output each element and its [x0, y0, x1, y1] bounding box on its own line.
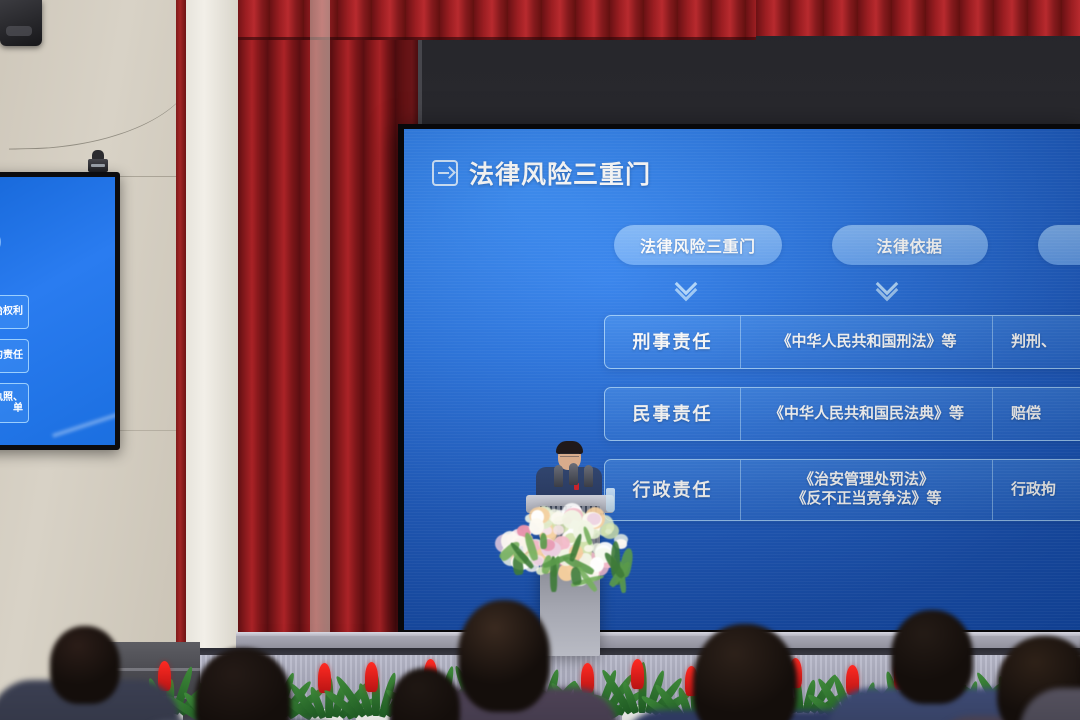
side-monitor-row-2: 约责任: [0, 339, 29, 373]
chevron-slot-1: [614, 279, 760, 299]
row-legal-basis: 《中华人民共和国刑法》等: [741, 316, 993, 368]
header-pill-legal-basis: 法律依据: [832, 225, 988, 265]
left-wall-monitor-screen: 政治权利 约责任 销执照、 单: [0, 177, 115, 445]
row-consequence: 赔偿: [993, 388, 1080, 440]
header-pill-category: 法律风险三重门: [614, 225, 782, 265]
glasses-icon: [560, 453, 579, 457]
audience-member: [1020, 560, 1080, 720]
audience-member: [340, 560, 510, 720]
row-consequence: 行政拘: [993, 460, 1080, 520]
chevron-double-down-icon: [676, 279, 698, 299]
microphone-icon: [554, 465, 563, 487]
conference-room-scene: 政治权利 约责任 销执照、 单 法律风险三重门 法律风险三重门 法律依据: [0, 0, 1080, 720]
chevron-slot-3: [1016, 279, 1080, 299]
legal-risk-table: 刑事责任 《中华人民共和国刑法》等 判刑、 民事责任 《中华人民共和国民法典》等…: [604, 315, 1080, 521]
table-row: 民事责任 《中华人民共和国民法典》等 赔偿: [604, 387, 1080, 441]
audience-head: [195, 648, 291, 720]
row-category: 刑事责任: [605, 316, 741, 368]
stage-curtain-top-right: [756, 0, 1080, 36]
microphone-icon: [584, 465, 593, 487]
row-legal-basis: 《中华人民共和国民法典》等: [741, 388, 993, 440]
row-consequence: 判刑、: [993, 316, 1080, 368]
row-category: 民事责任: [605, 388, 741, 440]
side-monitor-row-1: 政治权利: [0, 295, 29, 329]
microphone-icon: [569, 463, 578, 485]
audience-foreground: [0, 560, 1080, 720]
row-legal-basis: 《治安管理处罚法》 《反不正当竞争法》等: [741, 460, 993, 520]
monitor-glare: [52, 412, 115, 437]
flower-bloom: [553, 525, 564, 536]
slide-title: 法律风险三重门: [469, 155, 651, 191]
audience-head: [390, 668, 460, 720]
audience-shoulders: [1020, 688, 1080, 720]
audience-member: [128, 560, 358, 720]
side-monitor-pill: [0, 229, 1, 255]
audience-head: [693, 624, 797, 720]
slide-header-pills: 法律风险三重门 法律依据: [614, 225, 1080, 265]
ptz-camera-icon: [88, 150, 108, 172]
left-wall-monitor: 政治权利 约责任 销执照、 单: [0, 172, 120, 450]
flower-leaf: [540, 533, 547, 549]
chevron-double-down-icon: [877, 279, 899, 299]
table-row: 刑事责任 《中华人民共和国刑法》等 判刑、: [604, 315, 1080, 369]
arrow-right-in-box-icon: [432, 160, 458, 186]
ptz-camera-led: [91, 164, 105, 167]
slide-title-row: 法律风险三重门: [432, 155, 651, 191]
audience-head: [50, 626, 120, 704]
side-monitor-row-3: 销执照、 单: [0, 383, 29, 423]
table-row: 行政责任 《治安管理处罚法》 《反不正当竞争法》等 行政拘: [604, 459, 1080, 521]
ceiling-speaker-icon: [0, 0, 42, 46]
slide-chevron-row: [614, 279, 1080, 299]
header-pill-consequence: [1038, 225, 1080, 265]
chevron-slot-2: [810, 279, 966, 299]
